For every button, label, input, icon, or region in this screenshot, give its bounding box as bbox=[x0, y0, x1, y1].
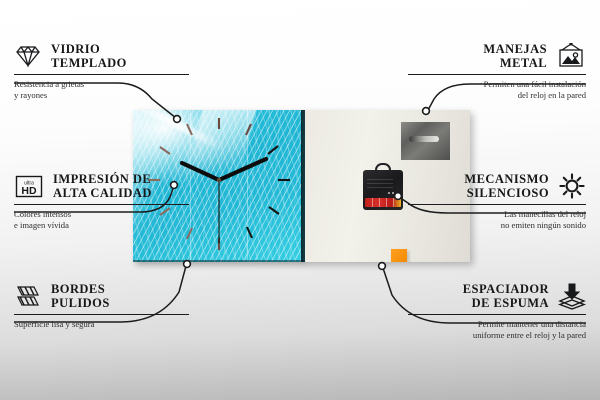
feature-title: MECANISMO SILENCIOSO bbox=[464, 172, 549, 200]
feature-manejas-metal: MANEJAS METAL Permiten una fácil instala… bbox=[408, 42, 586, 100]
feature-header: ultra HD IMPRESIÓN DE ALTA CALIDAD bbox=[14, 172, 189, 200]
feature-title: VIDRIO TEMPLADO bbox=[51, 42, 127, 70]
feature-divider bbox=[408, 314, 586, 315]
ultra-hd-icon: ultra HD bbox=[14, 174, 44, 199]
feature-divider bbox=[408, 204, 586, 205]
ultra-hd-icon-main-text: HD bbox=[21, 185, 37, 197]
leader-dot-vidrio-templado bbox=[174, 116, 181, 123]
feature-description: Las manecillas del reloj no emiten ningú… bbox=[408, 209, 586, 230]
gear-icon bbox=[558, 172, 586, 200]
feature-title: BORDES PULIDOS bbox=[51, 282, 110, 310]
feature-header: MECANISMO SILENCIOSO bbox=[408, 172, 586, 200]
infographic-canvas: VIDRIO TEMPLADO Resistencia a grietas y … bbox=[0, 0, 600, 400]
feature-title: MANEJAS METAL bbox=[483, 42, 547, 70]
feature-description: Colores intensos e imagen vívida bbox=[14, 209, 189, 230]
leader-dot-manejas bbox=[423, 108, 430, 115]
polished-edges-icon bbox=[14, 284, 42, 308]
feature-divider bbox=[14, 314, 189, 315]
feature-header: VIDRIO TEMPLADO bbox=[14, 42, 189, 70]
leader-dot-espaciador bbox=[379, 263, 386, 270]
leader-dot-mecanismo bbox=[395, 193, 402, 200]
feature-title: ESPACIADOR DE ESPUMA bbox=[463, 282, 549, 310]
arrow-onto-layers-icon bbox=[558, 283, 586, 310]
hanging-picture-icon bbox=[556, 43, 586, 69]
leader-dot-bordes bbox=[184, 261, 191, 268]
feature-header: ESPACIADOR DE ESPUMA bbox=[408, 282, 586, 310]
feature-description: Superficie lisa y segura bbox=[14, 319, 189, 330]
diamond-icon bbox=[14, 44, 42, 68]
feature-bordes-pulidos: BORDES PULIDOS Superficie lisa y segura bbox=[14, 282, 189, 330]
feature-mecanismo-silencioso: MECANISMO SILENCIOSO Las manecillas del … bbox=[408, 172, 586, 230]
feature-description: Resistencia a grietas y rayones bbox=[14, 79, 189, 100]
feature-vidrio-templado: VIDRIO TEMPLADO Resistencia a grietas y … bbox=[14, 42, 189, 100]
feature-title: IMPRESIÓN DE ALTA CALIDAD bbox=[53, 172, 152, 200]
feature-impresion-alta-calidad: ultra HD IMPRESIÓN DE ALTA CALIDAD Color… bbox=[14, 172, 189, 230]
feature-divider bbox=[14, 204, 189, 205]
feature-espaciador-de-espuma: ESPACIADOR DE ESPUMA Permite mantener un… bbox=[408, 282, 586, 340]
feature-description: Permiten una fácil instalación del reloj… bbox=[408, 79, 586, 100]
feature-header: MANEJAS METAL bbox=[408, 42, 586, 70]
feature-header: BORDES PULIDOS bbox=[14, 282, 189, 310]
feature-description: Permite mantener una distancia uniforme … bbox=[408, 319, 586, 340]
feature-divider bbox=[14, 74, 189, 75]
feature-divider bbox=[408, 74, 586, 75]
